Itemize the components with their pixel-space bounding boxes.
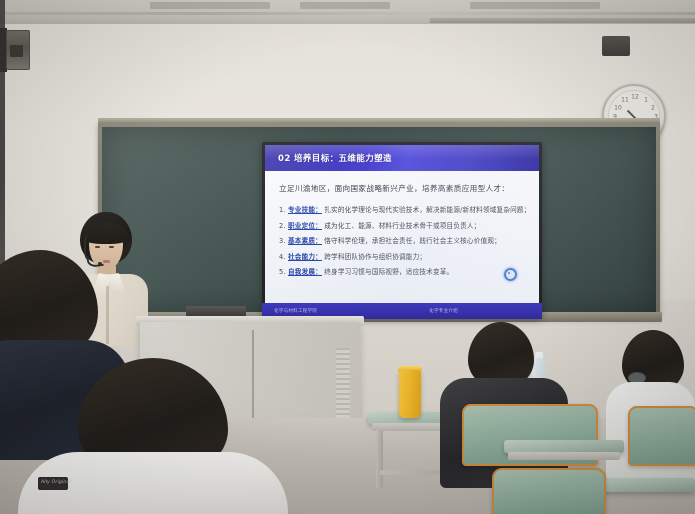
slide-list-item: 3. 基本素质： 恪守科学伦理，承担社会责任，践行社会主义核心价值观； (279, 235, 529, 245)
slide-list-item: 4. 社会能力： 跨学科团队协作与组织协调能力； (279, 251, 529, 261)
slide-lead-text: 立足川渝地区，面向国家战略新兴产业，培养高素质应用型人才： (279, 183, 529, 194)
list-item-text: 成为化工、能源、材料行业技术骨干或项目负责人； (324, 222, 480, 230)
slide-body: 立足川渝地区，面向国家战略新兴产业，培养高素质应用型人才： 1. 专业技能： 扎… (265, 171, 539, 311)
ceiling-panel (300, 2, 390, 9)
presenter-eye-right (109, 246, 114, 248)
clock-numeral: 10 (614, 105, 622, 112)
clock-numeral: 11 (621, 97, 629, 104)
classroom-photo: 12 1 2 3 4 5 6 7 8 9 10 11 02 培养目标：五维能力塑… (0, 0, 695, 514)
list-item-number: 2. (279, 222, 286, 230)
ceiling-conduit (430, 18, 695, 23)
slide-list-item: 1. 专业技能： 扎实的化学理论与现代实验技术，解决新能源/新材料领域复杂问题； (279, 204, 529, 214)
chair-back (492, 468, 606, 514)
wall-speaker-device (6, 30, 30, 70)
ceiling-seam (0, 12, 695, 15)
list-item-number: 4. (279, 253, 286, 261)
slide-list-item: 5. 自我发展： 终身学习习惯与国际视野，适应技术变革。 (279, 266, 529, 276)
presentation-screen[interactable]: 02 培养目标：五维能力塑造 立足川渝地区，面向国家战略新兴产业，培养高素质应用… (265, 145, 539, 311)
list-item-number: 3. (279, 237, 286, 245)
slide-title: 02 培养目标：五维能力塑造 (265, 152, 392, 164)
mic-capsule (98, 262, 102, 266)
desk-leg (376, 430, 383, 488)
list-item-text: 恪守科学伦理，承担社会责任，践行社会主义核心价值观； (324, 237, 501, 245)
presenter-mouth (103, 260, 110, 263)
slide-title-bar: 02 培养目标：五维能力塑造 (265, 145, 539, 171)
slide-bullet-list: 1. 专业技能： 扎实的化学理论与现代实验技术，解决新能源/新材料领域复杂问题；… (279, 204, 529, 276)
list-item-key: 基本素质： (288, 237, 322, 245)
list-item-number: 5. (279, 268, 286, 276)
thermos-cup (399, 370, 421, 418)
presenter-eye-left (95, 246, 100, 248)
list-item-key: 社会能力： (288, 253, 322, 261)
wall-junction-box (602, 36, 630, 56)
desk-surface (600, 478, 695, 492)
list-item-text: 扎实的化学理论与现代实验技术，解决新能源/新材料领域复杂问题； (324, 206, 530, 214)
shirt-label-text: Ally Original (41, 480, 71, 485)
list-item-text: 跨学科团队协作与组织协调能力； (324, 253, 426, 261)
desk-apron (508, 452, 620, 460)
list-item-key: 职业定位： (288, 222, 322, 230)
gear-icon[interactable] (504, 268, 517, 281)
clock-numeral: 1 (644, 97, 648, 104)
presenter-shirt-fold (106, 286, 109, 344)
list-item-text: 终身学习习惯与国际视野，适应技术变革。 (324, 268, 453, 276)
list-item-number: 1. (279, 206, 286, 214)
slide-list-item: 2. 职业定位： 成为化工、能源、材料行业技术骨干或项目负责人； (279, 220, 529, 230)
chair-back (628, 406, 695, 466)
clock-numeral: 2 (651, 105, 655, 112)
podium-vent (336, 348, 350, 422)
clock-numeral: 12 (631, 94, 639, 101)
list-item-key: 专业技能： (288, 206, 322, 214)
slide-footer-left: 化学与材料工程学院 (274, 308, 317, 314)
headset-boom (86, 254, 104, 268)
list-item-key: 自我发展： (288, 268, 322, 276)
ceiling-panel (470, 2, 600, 9)
ceiling-panel (150, 2, 270, 9)
slide-footer-right: 化学专业介绍 (429, 308, 458, 314)
